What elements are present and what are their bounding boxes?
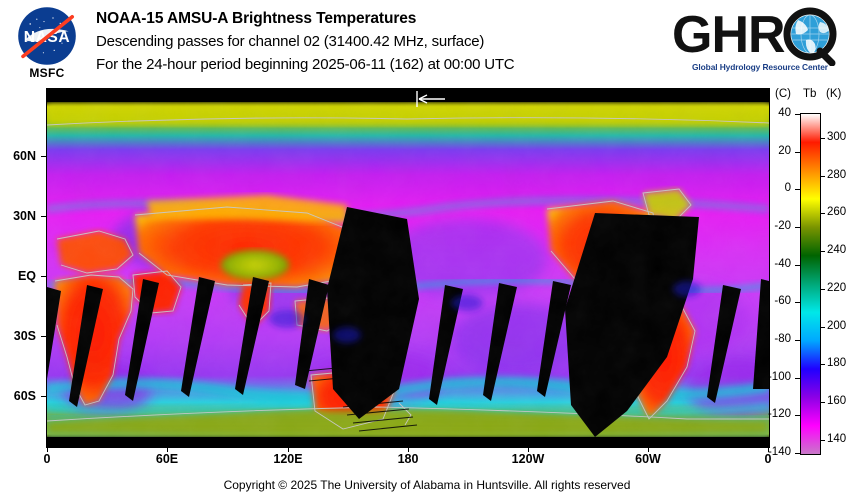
lon-label-180: 180 [385, 452, 431, 466]
nasa-logo: NASA MSFC [10, 6, 84, 84]
cb-tick-k-240 [820, 251, 825, 252]
cb-label-c--60: -60 [757, 295, 791, 307]
cb-label-k-240: 240 [827, 244, 854, 256]
cb-tick-k-220 [820, 289, 825, 290]
lon-label-60e: 60E [144, 452, 190, 466]
page-title: NOAA-15 AMSU-A Brightness Temperatures [96, 8, 676, 30]
subtitle-channel: Descending passes for channel 02 (31400.… [96, 30, 676, 53]
cb-label-k-140: 140 [827, 433, 854, 445]
cb-label-k-300: 300 [827, 131, 854, 143]
title-block: NOAA-15 AMSU-A Brightness Temperatures D… [96, 8, 676, 76]
lat-tick-eq [41, 276, 46, 277]
cb-label-k-280: 280 [827, 169, 854, 181]
cb-label-k-160: 160 [827, 395, 854, 407]
copyright-notice: Copyright © 2025 The University of Alaba… [0, 478, 854, 492]
ghrc-subtitle: Global Hydrology Resource Center [680, 62, 840, 72]
cb-label-c-20: 20 [757, 145, 791, 157]
cb-label-k-260: 260 [827, 206, 854, 218]
svg-text:GHR: GHR [672, 6, 785, 64]
lat-tick-30s [41, 336, 46, 337]
cb-label-c--20: -20 [757, 220, 791, 232]
cb-tick-c-40 [795, 114, 800, 115]
cb-tick-c-20 [795, 152, 800, 153]
cb-label-k-180: 180 [827, 357, 854, 369]
colorbar-unit-celsius: (C) [775, 88, 791, 100]
lat-label-60n: 60N [0, 149, 36, 163]
cb-label-c--100: -100 [757, 371, 791, 383]
map-canvas [47, 89, 769, 447]
cb-label-k-220: 220 [827, 282, 854, 294]
cb-tick-c--120 [795, 415, 800, 416]
lat-label-30s: 30S [0, 329, 36, 343]
cb-tick-k-180 [820, 364, 825, 365]
cb-tick-k-300 [820, 138, 825, 139]
cb-tick-k-160 [820, 402, 825, 403]
subtitle-period: For the 24-hour period beginning 2025-06… [96, 53, 676, 76]
cb-tick-c--20 [795, 227, 800, 228]
colorbar-quantity: Tb [803, 88, 816, 100]
lat-label-60s: 60S [0, 389, 36, 403]
cb-label-c--120: -120 [757, 408, 791, 420]
colorbar-gradient [801, 114, 820, 454]
cb-tick-k-260 [820, 213, 825, 214]
brightness-temperature-map[interactable] [46, 88, 770, 448]
lon-label-120e: 120E [265, 452, 311, 466]
lon-label-120w: 120W [505, 452, 551, 466]
cb-tick-c--140 [795, 453, 800, 454]
lat-label-eq: EQ [0, 269, 36, 283]
cb-tick-c--60 [795, 302, 800, 303]
colorbar-unit-kelvin: (K) [826, 88, 841, 100]
lon-label-0: 0 [24, 452, 70, 466]
cb-label-c--80: -80 [757, 333, 791, 345]
cb-label-c-0: 0 [757, 182, 791, 194]
cb-label-c--140: -140 [757, 446, 791, 458]
cb-label-c-40: 40 [757, 107, 791, 119]
lat-tick-30n [41, 216, 46, 217]
ghrc-wordmark-icon: GHR [670, 6, 846, 66]
cb-label-k-200: 200 [827, 320, 854, 332]
nasa-center-label: MSFC [10, 66, 84, 80]
lon-label-60w: 60W [625, 452, 671, 466]
cb-tick-c--40 [795, 265, 800, 266]
ghrc-logo: GHR Global Hydrology Resour [670, 6, 846, 78]
cb-label-c--40: -40 [757, 258, 791, 270]
lat-label-30n: 30N [0, 209, 36, 223]
lat-tick-60s [41, 396, 46, 397]
colorbar[interactable] [800, 113, 821, 455]
cb-tick-c--100 [795, 378, 800, 379]
cb-tick-k-140 [820, 440, 825, 441]
lat-tick-60n [41, 156, 46, 157]
cb-tick-c--80 [795, 340, 800, 341]
cb-tick-k-280 [820, 176, 825, 177]
cb-tick-k-200 [820, 327, 825, 328]
nasa-meatball-icon: NASA [17, 6, 77, 66]
cb-tick-c-0 [795, 189, 800, 190]
